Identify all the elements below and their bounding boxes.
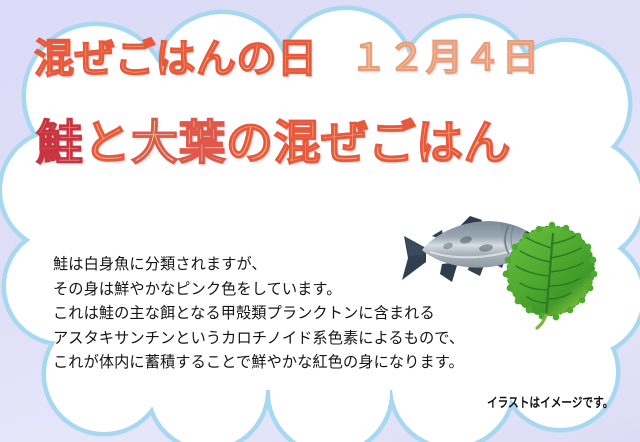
body-line-4: アスタキサンチンというカロチノイド系色素によるもので、 — [53, 326, 553, 351]
title-seg-sake: 鮭 — [36, 104, 84, 173]
title-main-text: 混ぜごはんの日 — [34, 26, 318, 84]
poster-title-line-2: 鮭と大葉の混ぜごはん — [36, 104, 511, 173]
poster-title-line-1: 混ぜごはんの日 １２月４日 — [34, 26, 540, 84]
body-line-3: これは鮭の主な餌となる甲殻類プランクトンに含まれる — [53, 301, 553, 326]
illustration-disclaimer: イラストはイメージです。 — [487, 392, 613, 411]
title-date: １２月４日 — [350, 27, 540, 81]
poster-content: 混ぜごはんの日 １２月４日 鮭と大葉の混ぜごはん 鮭は白身魚に分類されますが、 … — [0, 0, 640, 442]
shiso-leaf-icon — [494, 218, 606, 330]
title-seg-to: と — [84, 104, 132, 173]
title-seg-ooba: 大葉 — [131, 104, 226, 173]
poster-canvas: 混ぜごはんの日 １２月４日 鮭と大葉の混ぜごはん 鮭は白身魚に分類されますが、 … — [0, 0, 640, 442]
body-line-5: これが体内に蓄積することで鮮やかな紅色の身になります。 — [53, 350, 553, 375]
title-seg-mazegohan: の混ぜごはん — [226, 104, 511, 173]
